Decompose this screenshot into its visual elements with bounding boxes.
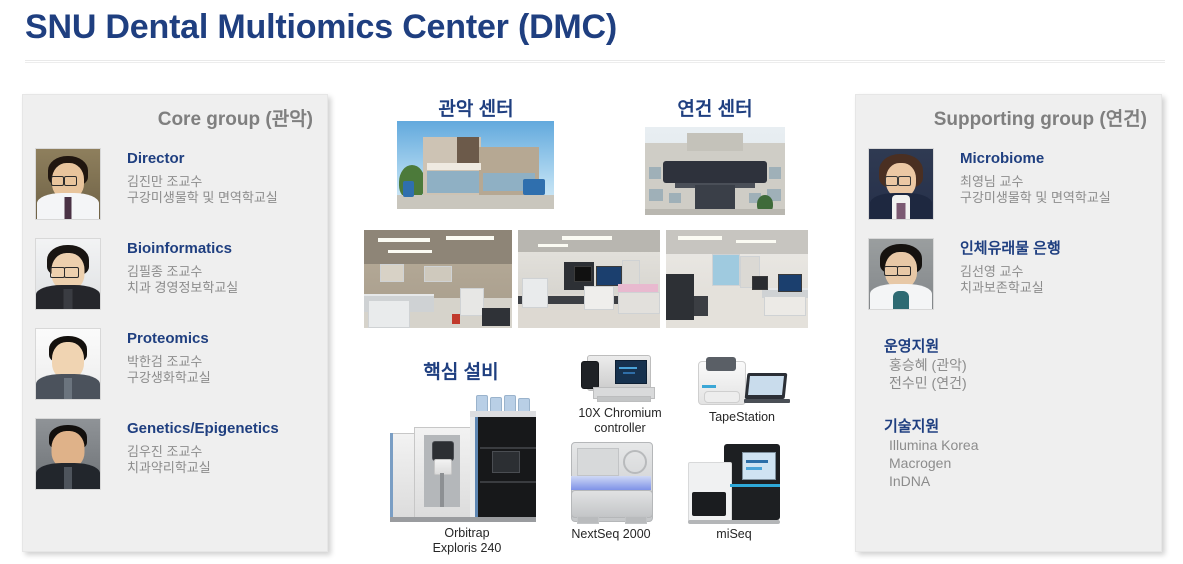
core-group-title: Core group (관악) [158,104,313,131]
support-block-title: 운영지원 [884,337,1134,356]
support-block-line: Macrogen [884,454,1134,472]
portrait-proteomics [35,328,101,400]
miseq-image [684,440,784,524]
header-divider [25,60,1165,63]
supporting-group-title: Supporting group (연건) [934,104,1147,131]
lab-photo-1 [364,230,512,328]
support-block-line: InDNA [884,472,1134,490]
equipment-chromium-controller: 10X Chromium controller [558,355,682,436]
member-name: 박한검 조교수 [127,354,322,370]
member-name: 김진만 조교수 [127,174,322,190]
portrait-bioinformatics [35,238,101,310]
member-dept: 구강미생물학 및 면역학교실 [127,190,322,206]
yeongeon-building-photo [645,127,785,215]
member-dept: 구강생화학교실 [127,370,322,386]
member-name: 김선영 교수 [960,264,1155,280]
support-block-line: Illumina Korea [884,436,1134,454]
equipment-heading: 핵심 설비 [396,357,526,384]
tapestation-image [692,355,792,407]
equipment-label: NextSeq 2000 [552,527,670,542]
gwanak-building-photo [397,121,554,209]
orbitrap-exploris-240-image [384,395,550,523]
core-group-panel: Core group (관악) Director 김진만 조교수 구강미생물학 … [22,94,328,552]
yeongeon-center-heading: 연건 센터 [645,94,785,121]
member-role: Genetics/Epigenetics [127,420,322,438]
member-role: 인체유래물 은행 [960,240,1155,258]
equipment-miseq: miSeq [680,440,788,542]
lab-photo-3 [666,230,808,328]
lab-photo-2 [518,230,660,328]
equipment-orbitrap-exploris-240: Orbitrap Exploris 240 [382,395,552,556]
member-role: Microbiome [960,150,1155,168]
support-block-line: 홍승혜 (관악) [884,356,1134,374]
chromium-controller-image [579,355,661,403]
support-block-technical: 기술지원 Illumina Korea Macrogen InDNA [884,417,1134,490]
portrait-microbiome [868,148,934,220]
supporting-group-panel: Supporting group (연건) Microbiome 최영님 교수 [855,94,1162,552]
member-role: Bioinformatics [127,240,322,258]
member-name: 김필종 조교수 [127,264,322,280]
member-role: Proteomics [127,330,322,348]
equipment-label: miSeq [680,527,788,542]
portrait-genetics [35,418,101,490]
equipment-tapestation: TapeStation [686,355,798,425]
support-block-title: 기술지원 [884,417,1134,436]
gwanak-center-heading: 관악 센터 [397,94,555,121]
member-dept: 치과약리학교실 [127,460,322,476]
slide-root: SNU Dental Multiomics Center (DMC) Core … [0,0,1183,564]
page-title: SNU Dental Multiomics Center (DMC) [25,8,617,47]
nextseq-2000-image [567,440,655,524]
member-role: Director [127,150,322,168]
equipment-nextseq-2000: NextSeq 2000 [552,440,670,542]
equipment-label: Orbitrap Exploris 240 [382,526,552,556]
equipment-label: 10X Chromium controller [558,406,682,436]
member-dept: 구강미생물학 및 면역학교실 [960,190,1155,206]
portrait-biobank [868,238,934,310]
support-block-operations: 운영지원 홍승혜 (관악) 전수민 (연건) [884,337,1134,392]
member-dept: 치과 경영정보학교실 [127,280,322,296]
member-name: 김우진 조교수 [127,444,322,460]
support-block-line: 전수민 (연건) [884,374,1134,392]
portrait-director [35,148,101,220]
member-name: 최영님 교수 [960,174,1155,190]
member-dept: 치과보존학교실 [960,280,1155,296]
equipment-label: TapeStation [686,410,798,425]
